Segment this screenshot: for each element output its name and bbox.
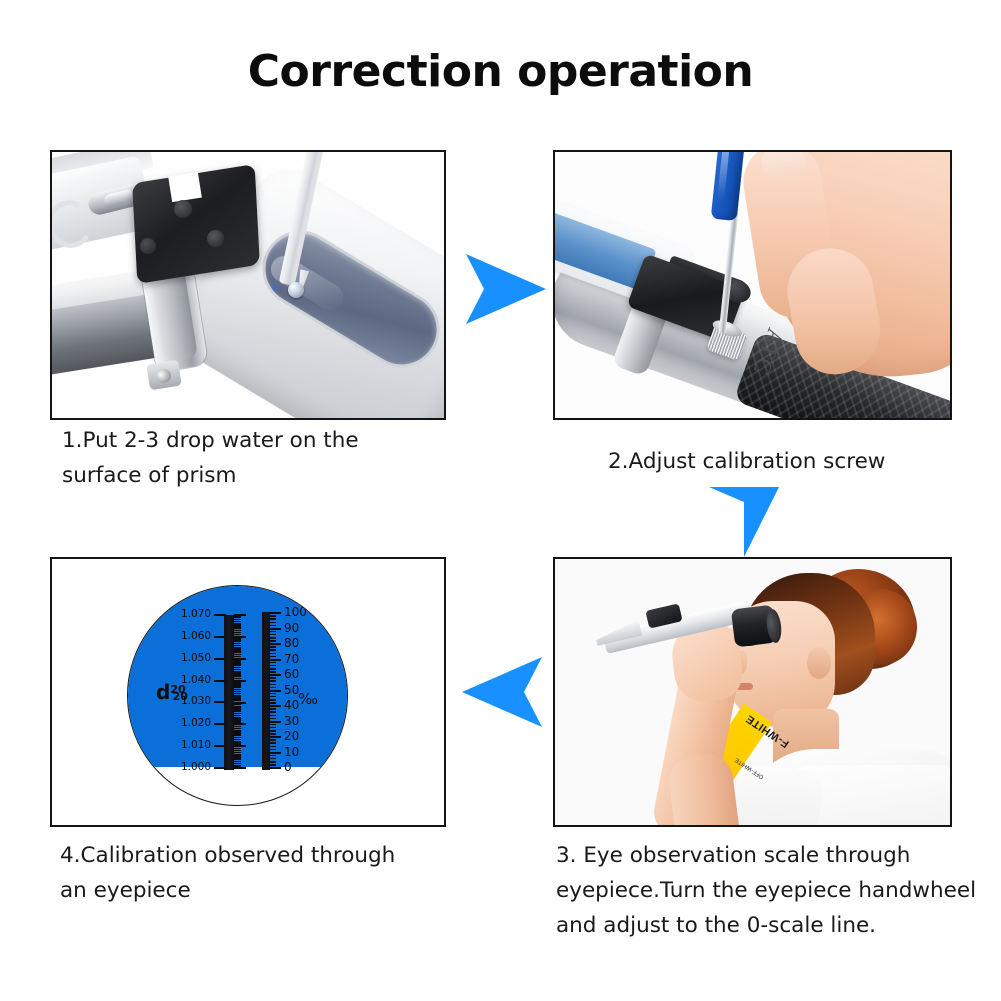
right-scale-minor-tick [270,634,276,636]
step-3-caption: 3. Eye observation scale through eyepiec… [556,838,986,943]
right-scale-minor-tick [270,711,276,713]
left-scale-major-tick [234,767,246,769]
left-scale-minor-tick [234,627,241,629]
daylight-plate-dimple-3 [140,238,156,254]
right-scale-label: 100 [284,605,307,619]
left-scale-minor-tick [234,741,241,743]
right-scale-minor-tick [270,761,276,763]
page-title: Correction operation [0,46,1001,97]
right-scale-minor-tick [270,693,276,695]
right-scale-minor-tick [270,739,276,741]
left-scale-label: 1.040 [168,674,211,686]
left-scale-minor-tick [234,713,241,715]
right-scale-minor-tick [270,618,276,620]
right-scale-major-tick [270,736,281,738]
left-scale-minor-tick [234,619,241,621]
right-scale-minor-tick [270,718,276,720]
left-scale-minor-tick [234,654,241,656]
right-scale-minor-tick [270,746,276,748]
left-scale-minor-tick [234,706,241,708]
water-droplet-small [272,285,278,290]
left-scale-minor-tick [234,630,241,632]
right-scale-major-tick [270,721,281,723]
left-scale-minor-tick [234,616,241,618]
right-scale-major-tick [270,612,281,614]
left-scale-major-tick [234,745,246,747]
left-scale-minor-tick [234,748,241,750]
left-scale-minor-tick [234,726,241,728]
left-scale-minor-tick [234,623,241,625]
right-scale-major-tick [270,643,281,645]
right-scale-minor-tick [270,684,276,686]
left-scale-minor-tick [234,675,241,677]
left-scale-minor-tick [234,664,241,666]
left-scale-minor-tick [234,721,241,723]
left-scale-minor-tick [234,625,241,627]
step-4-caption: 4.Calibration observed through an eyepie… [60,838,470,908]
step-4-scale-view: d2020 ‰ 1.0701.0601.0501.0401.0301.0201.… [52,559,444,825]
left-scale-label: 1.030 [168,695,211,707]
left-scale-label: 1.060 [168,630,211,642]
arrow-right-icon [462,252,546,326]
right-scale-minor-tick [270,649,276,651]
step-1-photo [52,152,444,418]
right-scale-minor-tick [270,653,276,655]
left-scale-minor-tick [234,689,241,691]
left-scale-minor-tick [234,621,241,623]
right-scale-minor-tick [270,677,276,679]
step-1-image-panel [50,150,446,420]
permille-symbol: ‰ [298,690,318,708]
left-scale-minor-tick [234,634,241,636]
left-scale-major-tick [234,702,246,704]
left-scale-label: 1.000 [168,761,211,773]
left-scale-minor-tick [234,732,241,734]
left-scale-minor-tick [234,632,241,634]
left-scale-minor-tick [234,715,241,717]
left-scale-minor-tick [234,763,241,765]
left-scale-minor-tick [234,686,241,688]
left-scale-minor-tick [234,699,241,701]
right-scale-minor-tick [270,699,276,701]
right-scale-major-tick [270,705,281,707]
right-scale-minor-tick [270,631,276,633]
left-scale-label: 1.070 [168,608,211,620]
left-scale-minor-tick [234,647,241,649]
right-scale-minor-tick [270,671,276,673]
right-scale-major-tick [270,674,281,676]
right-scale-label: 90 [284,621,299,635]
right-scale-major-tick [270,659,281,661]
right-scale-minor-tick [270,715,276,717]
left-scale-minor-tick [234,765,241,767]
left-scale-label: 1.050 [168,652,211,664]
right-scale-minor-tick [270,646,276,648]
right-scale-label: 10 [284,745,299,759]
left-scale-minor-tick [234,743,241,745]
right-scale-minor-tick [270,755,276,757]
right-scale-major-tick [270,690,281,692]
left-scale-minor-tick [234,678,241,680]
right-scale-minor-tick [270,758,276,760]
right-scale-minor-tick [270,742,276,744]
left-scale-minor-tick [234,752,241,754]
left-scale-major-tick [234,636,246,638]
right-scale-label: 40 [284,698,299,712]
right-scale-label: 80 [284,636,299,650]
left-scale-minor-tick [234,691,241,693]
left-scale-minor-tick [234,737,241,739]
right-scale-minor-tick [270,764,276,766]
left-scale-label-lead [214,745,226,747]
step-2-caption: 2.Adjust calibration screw [608,444,1001,479]
left-scale-minor-tick [234,750,241,752]
right-scale-minor-tick [270,662,276,664]
right-scale-minor-tick [270,637,276,639]
right-scale-minor-tick [270,668,276,670]
step-3-photo: F-WHITE OFF-WHITE [555,559,950,825]
right-scale-label: 20 [284,729,299,743]
left-scale-minor-tick [234,697,241,699]
left-scale-minor-tick [234,730,241,732]
left-scale-label: 1.010 [168,739,211,751]
daylight-plate-notch [168,172,202,202]
left-scale-minor-tick [234,651,241,653]
left-scale-minor-tick [234,671,241,673]
left-scale-minor-tick [234,667,241,669]
right-scale-minor-tick [270,680,276,682]
left-scale-label-lead [214,701,226,703]
left-scale-major-tick [234,680,246,682]
left-scale-major-tick [234,658,246,660]
right-scale-minor-tick [270,625,276,627]
step-2-image-panel: ATC [553,150,952,420]
right-scale-label: 60 [284,667,299,681]
right-scale-minor-tick [270,708,276,710]
left-scale-minor-tick [234,660,241,662]
arrow-down-icon [707,485,781,557]
left-scale-minor-tick [234,656,241,658]
right-scale-label: 50 [284,683,299,697]
step-3-image-panel: F-WHITE OFF-WHITE [553,557,952,827]
step-2-photo: ATC [555,152,950,418]
right-scale-column [262,612,270,770]
right-scale-major-tick [270,752,281,754]
left-scale-label-lead [214,767,226,769]
step-4-image-panel: d2020 ‰ 1.0701.0601.0501.0401.0301.0201.… [50,557,446,827]
left-scale-minor-tick [234,739,241,741]
left-scale-label: 1.020 [168,717,211,729]
right-scale-major-tick [270,628,281,630]
left-scale-minor-tick [234,662,241,664]
right-scale-minor-tick [270,656,276,658]
right-scale-major-tick [270,767,281,769]
right-scale-minor-tick [270,727,276,729]
step-1-caption: 1.Put 2-3 drop water on the surface of p… [62,423,462,493]
left-scale-minor-tick [234,693,241,695]
left-scale-minor-tick [234,728,241,730]
left-scale-label-lead [214,614,226,616]
eyepiece-field-of-view: d2020 ‰ 1.0701.0601.0501.0401.0301.0201.… [127,585,348,806]
left-scale-minor-tick [234,669,241,671]
left-scale-minor-tick [234,684,241,686]
ear [807,647,831,679]
left-scale-minor-tick [234,717,241,719]
left-scale-label-lead [214,636,226,638]
left-scale-label-lead [214,658,226,660]
left-scale-minor-tick [234,638,241,640]
right-scale-label: 0 [284,760,292,774]
left-scale-minor-tick [234,756,241,758]
left-scale-minor-tick [234,643,241,645]
right-scale-minor-tick [270,730,276,732]
left-scale-minor-tick [234,649,241,651]
left-scale-minor-tick [234,704,241,706]
left-scale-minor-tick [234,640,241,642]
daylight-plate-dimple-2 [207,230,224,247]
right-scale-minor-tick [270,622,276,624]
left-scale-minor-tick [234,695,241,697]
left-scale-minor-tick [234,645,241,647]
left-scale-minor-tick [234,754,241,756]
left-scale-minor-tick [234,719,241,721]
water-droplet [288,282,304,298]
left-scale-minor-tick [234,673,241,675]
left-scale-minor-tick [234,734,241,736]
right-scale-label: 70 [284,652,299,666]
left-scale-major-tick [234,614,246,616]
left-scale-minor-tick [234,708,241,710]
right-scale-minor-tick [270,702,276,704]
left-scale-minor-tick [234,758,241,760]
left-scale-label-lead [214,680,226,682]
right-scale-minor-tick [270,665,276,667]
right-scale-minor-tick [270,733,276,735]
right-scale-minor-tick [270,696,276,698]
arrow-left-icon [460,655,546,729]
left-scale-label-lead [214,723,226,725]
right-scale-minor-tick [270,640,276,642]
right-scale-label: 30 [284,714,299,728]
right-scale-minor-tick [270,687,276,689]
left-scale-minor-tick [234,710,241,712]
right-scale-minor-tick [270,724,276,726]
left-scale-minor-tick [234,682,241,684]
daylight-plate-dimple-1 [174,200,192,218]
left-scale-major-tick [234,723,246,725]
left-scale-minor-tick [234,761,241,763]
right-scale-minor-tick [270,749,276,751]
right-scale-minor-tick [270,615,276,617]
